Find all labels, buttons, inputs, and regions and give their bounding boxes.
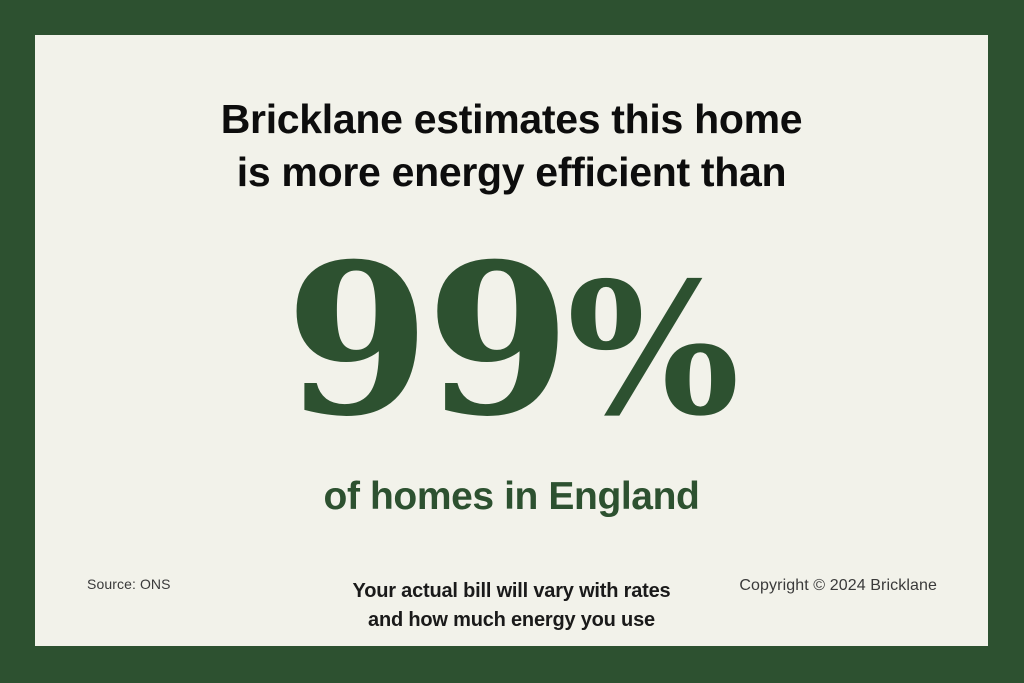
headline-line-1: Bricklane estimates this home [35,93,988,146]
disclaimer-line-2: and how much energy you use [35,606,988,635]
stat-percent-symbol: % [567,242,738,456]
stat-card: Bricklane estimates this home is more en… [35,35,988,646]
stat-value: 99 [285,219,566,463]
poster-background: Bricklane estimates this home is more en… [0,0,1024,683]
source-credit: Source: ONS [87,575,171,593]
stat-value-block: 99% [35,237,988,453]
headline-line-2: is more energy efficient than [35,146,988,199]
copyright-notice: Copyright © 2024 Bricklane [739,576,937,596]
headline: Bricklane estimates this home is more en… [35,35,988,199]
stat-caption: of homes in England [35,475,988,519]
